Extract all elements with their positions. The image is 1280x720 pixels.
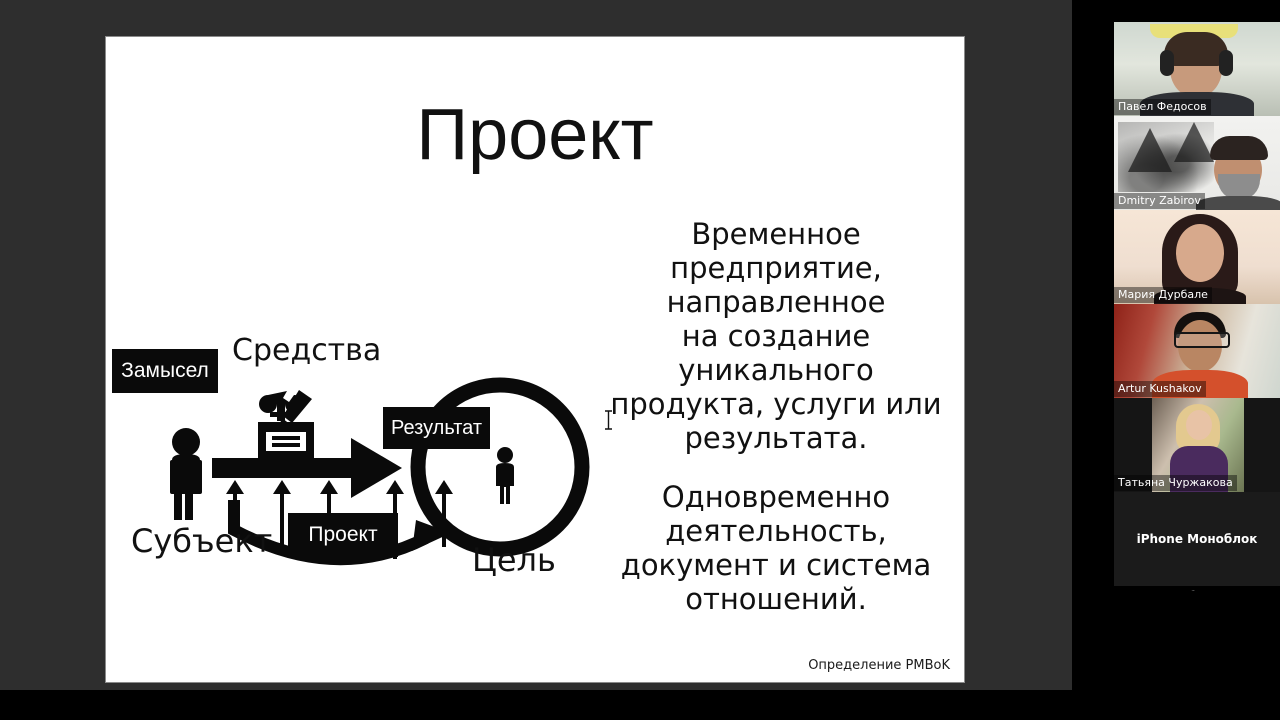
torso-shape xyxy=(1196,196,1280,210)
glasses-icon xyxy=(1174,332,1230,348)
mountain-peak xyxy=(1128,128,1172,172)
mountain-peak xyxy=(1174,122,1214,162)
slide-paragraph-simultaneous: Одновременно деятельность, документ и си… xyxy=(606,480,946,616)
person-icon-goal xyxy=(496,447,514,504)
diagram-label-subject: Субъект xyxy=(131,522,272,560)
face-shape xyxy=(1186,410,1212,440)
participant-name: Dmitry Zabirov xyxy=(1114,193,1205,209)
hair-shape xyxy=(1210,136,1268,160)
participant-tile[interactable]: Павел Федосов xyxy=(1114,22,1280,116)
participant-tile[interactable]: iPhone Моноблок xyxy=(1114,492,1280,586)
participant-tile[interactable]: Artur Kushakov xyxy=(1114,304,1280,398)
diagram-box-result: Результат xyxy=(383,407,490,449)
diagram-box-idea: Замысел xyxy=(112,349,218,393)
participant-tile[interactable]: Dmitry Zabirov xyxy=(1114,116,1280,210)
diagram-label-means: Средства xyxy=(232,333,381,368)
participant-tile[interactable]: Мария Дурбале xyxy=(1114,210,1280,304)
slide-title: Проект xyxy=(106,99,964,171)
diagram-box-project: Проект xyxy=(288,513,398,557)
meeting-window: Проект Временное предприятие, направленн… xyxy=(0,0,1280,720)
participant-center-name: iPhone Моноблок xyxy=(1114,532,1280,546)
headphone-right-icon xyxy=(1219,50,1233,76)
diagram-label-goal: Цель xyxy=(472,541,556,579)
participant-filmstrip[interactable]: Павел Федосов Dmitry Zabirov Мария Дур xyxy=(1114,22,1280,587)
participant-name: Татьяна Чуржакова xyxy=(1114,475,1237,491)
participant-name: Павел Федосов xyxy=(1114,99,1211,115)
toolbox-icon xyxy=(258,390,314,460)
slide-paragraph-definition: Временное предприятие, направленное на с… xyxy=(606,217,946,455)
presentation-slide[interactable]: Проект Временное предприятие, направленн… xyxy=(106,37,964,682)
slide-source-footer: Определение PMBoK xyxy=(808,658,950,673)
participant-name: iPhone Моноблок xyxy=(1114,588,1220,591)
participant-tile[interactable]: Татьяна Чуржакова xyxy=(1114,398,1280,492)
participant-name: Artur Kushakov xyxy=(1114,381,1206,397)
shared-screen-stage[interactable]: Проект Временное предприятие, направленн… xyxy=(0,0,1072,690)
face-shape xyxy=(1176,224,1224,282)
person-icon-subject xyxy=(170,428,202,520)
headphone-left-icon xyxy=(1160,50,1174,76)
participant-name: Мария Дурбале xyxy=(1114,287,1212,303)
